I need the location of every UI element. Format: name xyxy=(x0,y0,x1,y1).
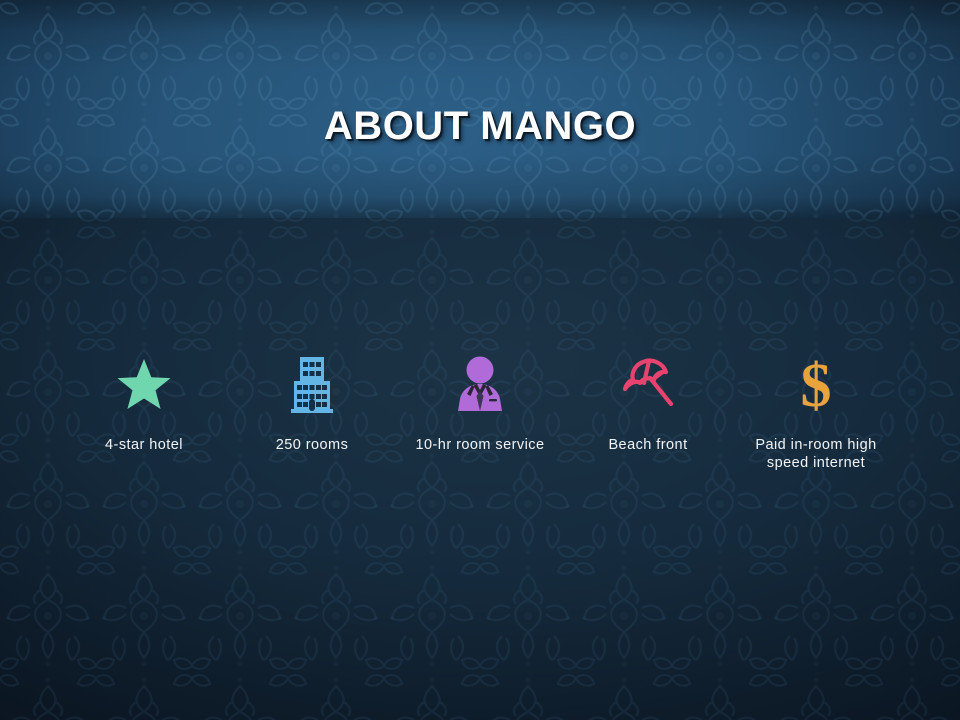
svg-text:$: $ xyxy=(801,353,832,415)
feature-item-beach-front: Beach front xyxy=(564,352,732,454)
feature-item-building: 250 rooms xyxy=(228,352,396,454)
beach-umbrella-icon xyxy=(619,352,677,416)
feature-item-room-service: 10-hr room service xyxy=(396,352,564,454)
feature-label: Beach front xyxy=(573,436,723,454)
building-icon xyxy=(288,352,336,416)
slide-about-mango: ABOUT MANGO 4-star hotel xyxy=(0,0,960,720)
feature-item-paid-internet: $ Paid in-room high speed internet xyxy=(732,352,900,472)
feature-row: 4-star hotel xyxy=(60,352,900,472)
page-title: ABOUT MANGO xyxy=(0,104,960,149)
feature-item-star: 4-star hotel xyxy=(60,352,228,454)
feature-label: Paid in-room high speed internet xyxy=(736,436,896,472)
concierge-icon xyxy=(453,352,507,416)
feature-label: 250 rooms xyxy=(237,436,387,454)
dollar-sign-icon: $ xyxy=(794,352,838,416)
feature-label: 4-star hotel xyxy=(69,436,219,454)
star-icon xyxy=(117,352,171,416)
feature-label: 10-hr room service xyxy=(405,436,555,454)
